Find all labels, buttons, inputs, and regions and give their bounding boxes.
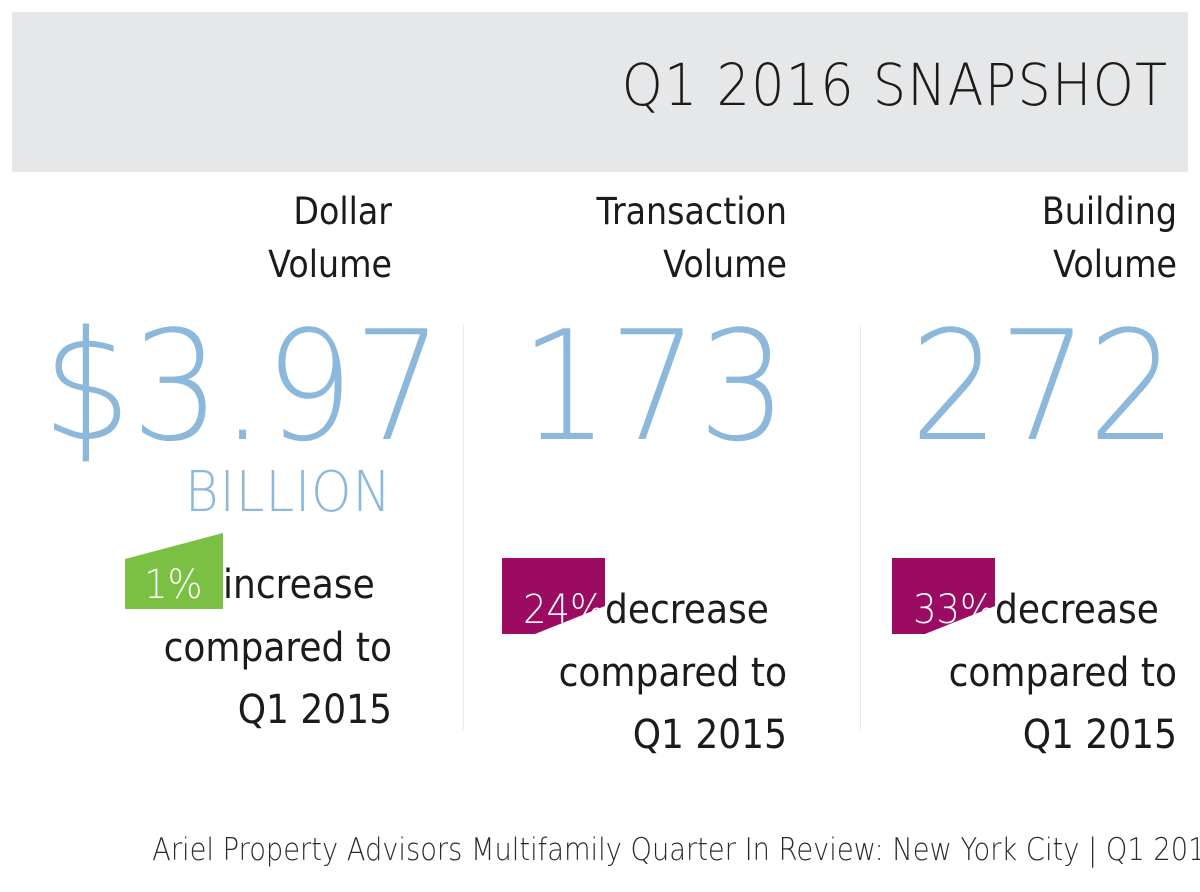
change-direction-dollar-volume: increase bbox=[223, 564, 375, 609]
metric-value-transaction-volume: 173 bbox=[437, 311, 787, 463]
change-percent-dollar-volume: 1% bbox=[144, 564, 202, 607]
change-direction-transaction-volume: decrease bbox=[605, 589, 769, 634]
metric-card-dollar-volume: Dollar Volume $3.97 BILLION 1% increase … bbox=[12, 182, 392, 802]
metric-title-line-1: Dollar bbox=[50, 186, 392, 239]
metric-card-building-volume: Building Volume 272 33% decrease compare… bbox=[797, 182, 1177, 802]
metric-title-line-2: Volume bbox=[50, 239, 392, 292]
metric-title-line-2: Volume bbox=[445, 239, 787, 292]
comparison-line-2: Q1 2015 bbox=[835, 704, 1177, 766]
metric-title-transaction-volume: Transaction Volume bbox=[445, 182, 787, 291]
metric-title-line-2: Volume bbox=[835, 239, 1177, 292]
metric-value-dollar-volume: $3.97 bbox=[42, 311, 392, 463]
header-band: Q1 2016 SNAPSHOT bbox=[12, 12, 1188, 172]
comparison-text-transaction-volume: compared to Q1 2015 bbox=[445, 642, 787, 766]
footer-source-line: Ariel Property Advisors Multifamily Quar… bbox=[152, 832, 1180, 868]
comparison-text-dollar-volume: compared to Q1 2015 bbox=[50, 617, 392, 741]
change-percent-transaction-volume: 24% bbox=[523, 589, 605, 632]
change-row-transaction-volume: 24% decrease bbox=[407, 558, 787, 634]
change-row-dollar-volume: 1% increase bbox=[12, 533, 392, 609]
comparison-line-1: compared to bbox=[50, 617, 392, 679]
comparison-text-building-volume: compared to Q1 2015 bbox=[835, 642, 1177, 766]
comparison-line-2: Q1 2015 bbox=[50, 679, 392, 741]
change-direction-building-volume: decrease bbox=[995, 589, 1159, 634]
metric-card-transaction-volume: Transaction Volume 173 24% decrease comp… bbox=[407, 182, 787, 802]
comparison-line-1: compared to bbox=[445, 642, 787, 704]
change-badge-increase: 1% bbox=[125, 533, 223, 609]
page-title: Q1 2016 SNAPSHOT bbox=[621, 56, 1168, 114]
metric-title-line-1: Building bbox=[835, 186, 1177, 239]
change-row-building-volume: 33% decrease bbox=[797, 558, 1177, 634]
metric-title-dollar-volume: Dollar Volume bbox=[50, 182, 392, 291]
comparison-line-2: Q1 2015 bbox=[445, 704, 787, 766]
snapshot-columns: Dollar Volume $3.97 BILLION 1% increase … bbox=[12, 182, 1188, 802]
change-percent-building-volume: 33% bbox=[913, 589, 995, 632]
comparison-line-1: compared to bbox=[835, 642, 1177, 704]
metric-unit-dollar-volume: BILLION bbox=[42, 465, 392, 521]
change-badge-decrease: 33% bbox=[892, 558, 995, 634]
metric-title-line-1: Transaction bbox=[445, 186, 787, 239]
change-badge-decrease: 24% bbox=[502, 558, 605, 634]
metric-title-building-volume: Building Volume bbox=[835, 182, 1177, 291]
metric-value-building-volume: 272 bbox=[827, 311, 1177, 463]
